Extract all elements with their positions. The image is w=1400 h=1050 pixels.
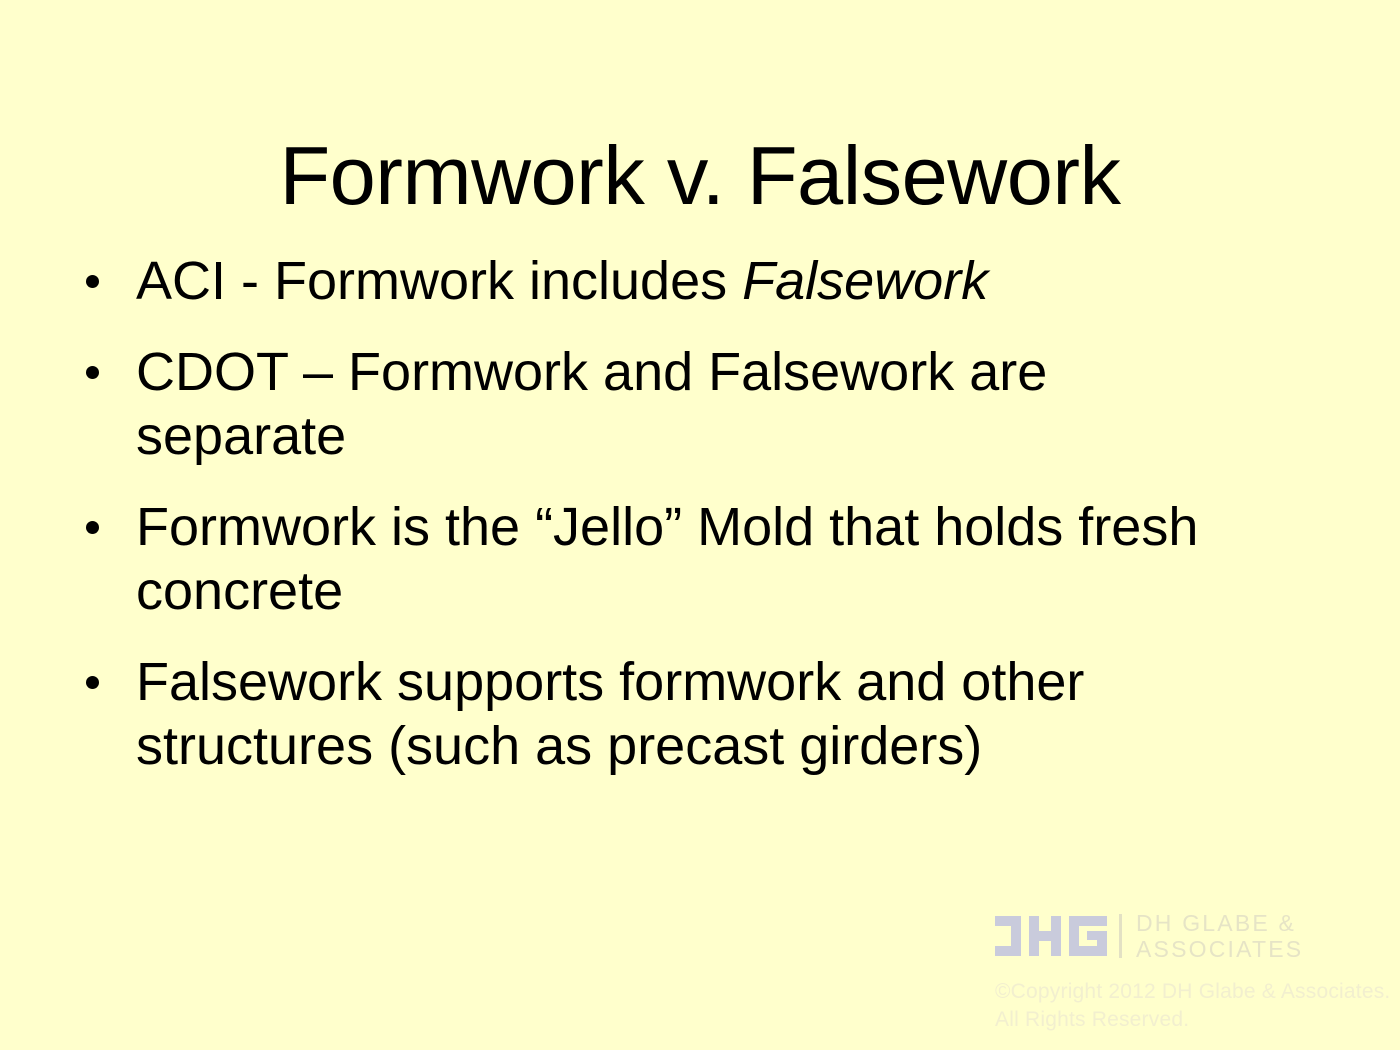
logo-wordmark: DH GLABE & ASSOCIATES [1136, 910, 1303, 962]
bullet-text-plain: Formwork is the “Jello” Mold that holds … [136, 497, 1198, 621]
bullet-text-plain: Falsework supports formwork and other st… [136, 652, 1084, 776]
bullet-dot-icon [86, 521, 99, 534]
list-item: Falsework supports formwork and other st… [78, 651, 1258, 779]
presentation-slide: Formwork v. Falsework ACI - Formwork inc… [0, 0, 1400, 1050]
bullet-list: ACI - Formwork includes Falsework CDOT –… [78, 250, 1258, 779]
bullet-text-plain: CDOT – Formwork and Falsework are separa… [136, 342, 1047, 466]
logo-divider [1119, 914, 1122, 958]
copyright-notice: ©Copyright 2012 DH Glabe & Associates. A… [995, 978, 1395, 1033]
bullet-text: Formwork is the “Jello” Mold that holds … [136, 496, 1258, 624]
footer-branding: DH GLABE & ASSOCIATES ©Copyright 2012 DH… [995, 908, 1395, 1033]
list-item: CDOT – Formwork and Falsework are separa… [78, 341, 1258, 469]
copyright-line-1: ©Copyright 2012 DH Glabe & Associates. [995, 978, 1395, 1006]
bullet-text: ACI - Formwork includes Falsework [136, 250, 1258, 314]
copyright-line-2: All Rights Reserved. [995, 1006, 1395, 1034]
bullet-dot-icon [86, 275, 99, 288]
bullet-text-italic: Falsework [742, 251, 988, 311]
logo-row: DH GLABE & ASSOCIATES [995, 908, 1395, 964]
page-title: Formwork v. Falsework [0, 134, 1400, 217]
list-item: ACI - Formwork includes Falsework [78, 250, 1258, 314]
logo-wordmark-line-1: DH GLABE & [1136, 910, 1303, 936]
bullet-text: Falsework supports formwork and other st… [136, 651, 1258, 779]
bullet-text: CDOT – Formwork and Falsework are separa… [136, 341, 1258, 469]
dhg-logo-icon [995, 916, 1107, 956]
bullet-dot-icon [86, 676, 99, 689]
bullet-dot-icon [86, 366, 99, 379]
logo-wordmark-line-2: ASSOCIATES [1136, 936, 1303, 962]
list-item: Formwork is the “Jello” Mold that holds … [78, 496, 1258, 624]
bullet-text-plain: ACI - Formwork includes [136, 251, 742, 311]
